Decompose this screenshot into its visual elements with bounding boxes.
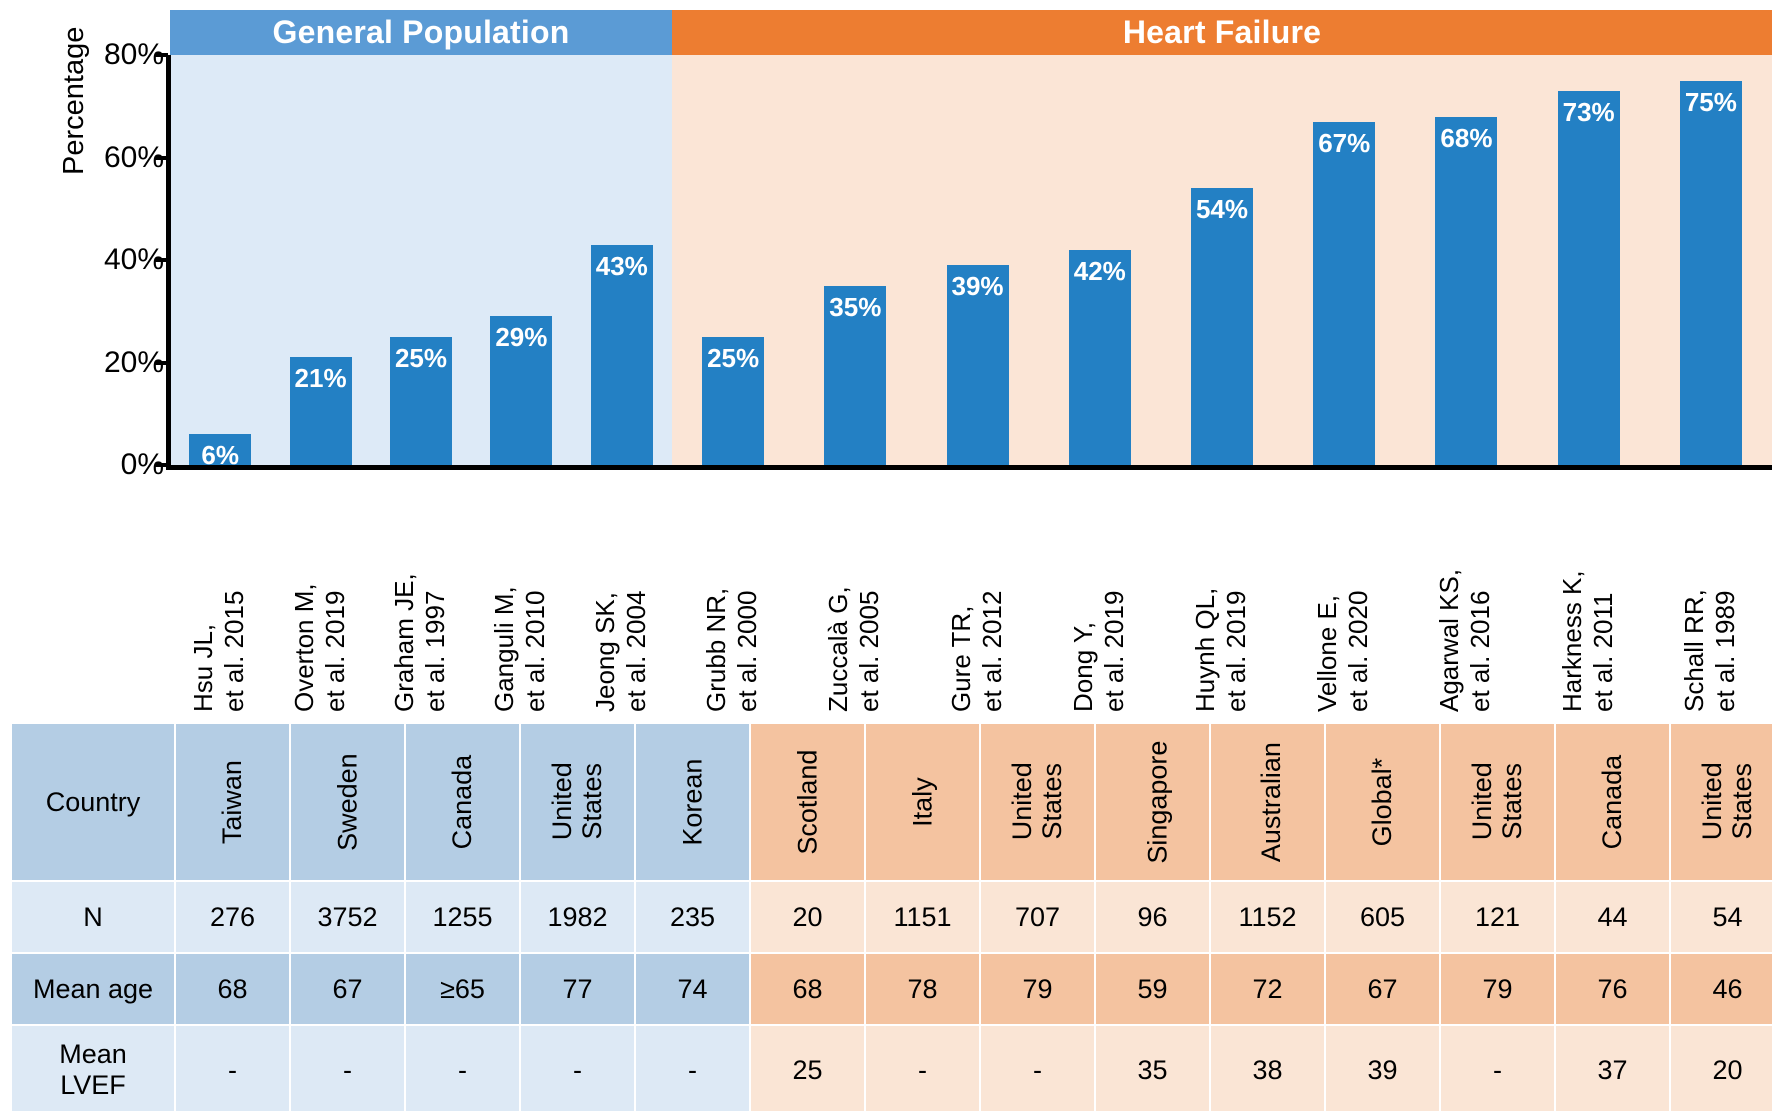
table-cell-country: Australian — [1256, 742, 1286, 862]
country-line1: Korean — [677, 758, 707, 845]
table-cell: 1151 — [866, 882, 979, 952]
bar[interactable]: 73% — [1558, 91, 1620, 465]
country-line2: States — [1497, 763, 1527, 840]
table-cell-country: UnitedStates — [1007, 763, 1067, 841]
bar[interactable]: 43% — [591, 245, 653, 465]
table-cell: - — [866, 1026, 979, 1111]
table-cell: 25 — [751, 1026, 864, 1111]
table-cell: 3752 — [291, 882, 404, 952]
bar-value-label: 39% — [947, 271, 1009, 302]
bar-value-label: 25% — [702, 343, 764, 374]
x-axis-label-slot: Agarwal KS,et al. 2016 — [1405, 472, 1527, 712]
table-cell: UnitedStates — [981, 724, 1094, 880]
bar[interactable]: 29% — [490, 316, 552, 465]
table-cell: 20 — [751, 882, 864, 952]
table-row-n: N276375212551982235201151707961152605121… — [12, 882, 1772, 952]
table-cell: 276 — [176, 882, 289, 952]
table-cell: ≥65 — [406, 954, 519, 1024]
bar-value-label: 73% — [1558, 97, 1620, 128]
bar[interactable]: 68% — [1435, 117, 1497, 466]
bar-chart: Percentage 0%20%40%60%80% General Popula… — [0, 0, 1772, 718]
table-row-label: MeanLVEF — [12, 1026, 174, 1111]
bar-slot: 29% — [471, 55, 571, 465]
bar[interactable]: 21% — [290, 357, 352, 465]
table-cell-mean-lvef: 39 — [1367, 1055, 1397, 1085]
table-cell-mean-age: 77 — [562, 974, 592, 1004]
bar-value-label: 43% — [591, 251, 653, 282]
table-cell: 1255 — [406, 882, 519, 952]
x-axis-label-line1: Gure TR, — [946, 472, 977, 712]
table-cell: - — [521, 1026, 634, 1111]
table-cell-mean-lvef: 37 — [1597, 1055, 1627, 1085]
table-cell-mean-lvef: - — [1493, 1055, 1502, 1085]
table-cell: Australian — [1211, 724, 1324, 880]
table-cell: 72 — [1211, 954, 1324, 1024]
table-cell-mean-age: 67 — [1367, 974, 1397, 1004]
table-cell-mean-age: 72 — [1252, 974, 1282, 1004]
table-cell: 20 — [1671, 1026, 1772, 1111]
x-axis-labels-layer: Hsu JL,et al. 2015Overton M,et al. 2019G… — [170, 472, 1772, 712]
table-cell-mean-age: 59 — [1137, 974, 1167, 1004]
y-tick-label: 20% — [74, 346, 164, 380]
x-axis-label-line2: et al. 2010 — [520, 472, 551, 712]
table-cell-n: 44 — [1597, 902, 1627, 932]
bar[interactable]: 25% — [702, 337, 764, 465]
bar-value-label: 68% — [1435, 123, 1497, 154]
x-axis-label-slot: Harkness K,et al. 2011 — [1528, 472, 1650, 712]
bar-slot: 68% — [1405, 55, 1527, 465]
x-axis-label-line2: et al. 2012 — [976, 472, 1007, 712]
table-cell: UnitedStates — [1441, 724, 1554, 880]
table-cell-mean-lvef: 25 — [792, 1055, 822, 1085]
table-cell-mean-lvef: - — [573, 1055, 582, 1085]
table-cell: 39 — [1326, 1026, 1439, 1111]
y-tick-label: 60% — [74, 141, 164, 175]
country-line1: Scotland — [792, 749, 822, 854]
x-axis-label-line1: Grubb NR, — [701, 472, 732, 712]
table-cell-mean-lvef: 35 — [1137, 1055, 1167, 1085]
y-tick-label: 80% — [74, 38, 164, 72]
bar-slot: 25% — [672, 55, 794, 465]
x-axis-label-slot: Grubb NR,et al. 2000 — [672, 472, 794, 712]
table-cell: 1152 — [1211, 882, 1324, 952]
x-axis-label-line2: et al. 2016 — [1465, 472, 1496, 712]
bar-slot: 75% — [1650, 55, 1772, 465]
bar[interactable]: 39% — [947, 265, 1009, 465]
x-axis-label-line2: et al. 2005 — [854, 472, 885, 712]
table-cell: 79 — [981, 954, 1094, 1024]
x-axis-label: Ganguli M,et al. 2010 — [489, 472, 550, 712]
bar-value-label: 54% — [1191, 194, 1253, 225]
table-cell-country: Global* — [1367, 757, 1397, 846]
table-cell: Sweden — [291, 724, 404, 880]
bar-value-label: 42% — [1069, 256, 1131, 287]
x-axis-label-line2: et al. 2019 — [1098, 472, 1129, 712]
table-cell: - — [636, 1026, 749, 1111]
table-cell-country: UnitedStates — [1467, 763, 1527, 841]
table-row-mean-age: Mean age6867≥657774687879597267797646 — [12, 954, 1772, 1024]
table-cell-mean-age: ≥65 — [440, 974, 485, 1004]
table-cell-mean-lvef: - — [1033, 1055, 1042, 1085]
table-cell-n: 707 — [1015, 902, 1060, 932]
table-cell-mean-lvef: - — [688, 1055, 697, 1085]
table-cell-mean-age: 67 — [332, 974, 362, 1004]
table-cell: Italy — [866, 724, 979, 880]
group-header-general-population-label: General Population — [273, 14, 570, 51]
bar-slot: 6% — [170, 55, 270, 465]
country-line1: United — [1697, 763, 1727, 841]
table-cell-n: 605 — [1360, 902, 1405, 932]
x-axis-label: Agarwal KS,et al. 2016 — [1434, 472, 1495, 712]
x-axis-label-line1: Huynh QL, — [1190, 472, 1221, 712]
table-cell-mean-age: 76 — [1597, 974, 1627, 1004]
table-cell-n: 1152 — [1238, 902, 1296, 932]
bars-layer: 6%21%25%29%43%25%35%39%42%54%67%68%73%75… — [170, 55, 1772, 465]
x-axis-label-line1: Agarwal KS, — [1434, 472, 1465, 712]
x-axis-label: Harkness K,et al. 2011 — [1557, 472, 1618, 712]
table-cell: Scotland — [751, 724, 864, 880]
x-axis-line — [170, 465, 1772, 470]
x-axis-label-line1: Zuccalà G, — [823, 472, 854, 712]
bar[interactable]: 6% — [189, 434, 251, 465]
table-cell-country: Canada — [447, 754, 477, 849]
table-cell-n: 1982 — [547, 902, 607, 932]
mean-lvef-label-line2: LVEF — [60, 1070, 126, 1100]
x-axis-label: Schall RR,et al. 1989 — [1679, 472, 1740, 712]
table-cell: 79 — [1441, 954, 1554, 1024]
x-axis-label-line1: Ganguli M, — [489, 472, 520, 712]
x-axis-label-line1: Graham JE, — [389, 472, 420, 712]
table-cell: 68 — [176, 954, 289, 1024]
x-axis-label-line1: Dong Y, — [1068, 472, 1099, 712]
x-axis-label-slot: Schall RR,et al. 1989 — [1650, 472, 1772, 712]
x-axis-label-slot: Dong Y,et al. 2019 — [1039, 472, 1161, 712]
table-cell: 37 — [1556, 1026, 1669, 1111]
x-axis-label-line2: et al. 1989 — [1710, 472, 1741, 712]
table-row-country: CountryTaiwanSwedenCanadaUnitedStatesKor… — [12, 724, 1772, 880]
table-cell: - — [1441, 1026, 1554, 1111]
table-row-label-text: N — [83, 902, 103, 932]
table-cell: 68 — [751, 954, 864, 1024]
bar-slot: 67% — [1283, 55, 1405, 465]
table-cell-mean-lvef: - — [458, 1055, 467, 1085]
x-axis-label-line2: et al. 2020 — [1343, 472, 1374, 712]
x-axis-label: Gure TR,et al. 2012 — [946, 472, 1007, 712]
table-cell-n: 54 — [1712, 902, 1742, 932]
table-cell-n: 3752 — [317, 902, 377, 932]
table-cell: 46 — [1671, 954, 1772, 1024]
country-line1: Italy — [907, 777, 937, 827]
bar[interactable]: 25% — [390, 337, 452, 465]
table-cell: 54 — [1671, 882, 1772, 952]
table-cell: UnitedStates — [521, 724, 634, 880]
country-line1: Global* — [1367, 757, 1397, 846]
country-line1: United — [547, 763, 577, 841]
table-cell-country: Scotland — [792, 749, 822, 854]
bar-value-label: 75% — [1680, 87, 1742, 118]
x-axis-label-slot: Gure TR,et al. 2012 — [916, 472, 1038, 712]
bar-value-label: 6% — [189, 440, 251, 471]
country-line1: United — [1467, 763, 1497, 841]
x-axis-label-slot: Ganguli M,et al. 2010 — [471, 472, 571, 712]
table-cell-mean-age: 74 — [677, 974, 707, 1004]
x-axis-label-line1: Vellone E, — [1312, 472, 1343, 712]
table-row-mean-lvef: MeanLVEF-----25--353839-3720 — [12, 1026, 1772, 1111]
table-cell-n: 1255 — [432, 902, 492, 932]
summary-table: CountryTaiwanSwedenCanadaUnitedStatesKor… — [10, 722, 1766, 1106]
table-row-label-text: Mean age — [33, 974, 153, 1004]
table-cell: 1982 — [521, 882, 634, 952]
y-tick-label: 0% — [74, 448, 164, 482]
table-cell: 74 — [636, 954, 749, 1024]
table-row-label-text: MeanLVEF — [59, 1039, 127, 1100]
table-cell-country: Sweden — [332, 753, 362, 851]
table-cell-country: Korean — [677, 758, 707, 845]
table-cell-country: Singapore — [1142, 740, 1172, 863]
group-header-heart-failure: Heart Failure — [672, 10, 1772, 55]
table-cell: 67 — [291, 954, 404, 1024]
country-line1: Canada — [1597, 754, 1627, 849]
table-cell-n: 1151 — [893, 902, 951, 932]
x-axis-label-slot: Zuccalà G,et al. 2005 — [794, 472, 916, 712]
x-axis-label-line1: Jeong SK, — [590, 472, 621, 712]
table-cell: 67 — [1326, 954, 1439, 1024]
table-cell-country: Canada — [1597, 754, 1627, 849]
table-cell-country: Italy — [907, 777, 937, 827]
mean-lvef-label-line1: Mean — [59, 1039, 127, 1069]
x-axis-label-line1: Overton M, — [289, 472, 320, 712]
x-axis-label-slot: Jeong SK,et al. 2004 — [572, 472, 672, 712]
table-cell-mean-age: 68 — [217, 974, 247, 1004]
table-cell-mean-age: 68 — [792, 974, 822, 1004]
table-cell-mean-age: 46 — [1712, 974, 1742, 1004]
table-cell: Singapore — [1096, 724, 1209, 880]
table-cell: 707 — [981, 882, 1094, 952]
table-cell-n: 20 — [792, 902, 822, 932]
x-axis-label-line2: et al. 2011 — [1587, 472, 1618, 712]
x-axis-label: Zuccalà G,et al. 2005 — [823, 472, 884, 712]
bar[interactable]: 67% — [1313, 122, 1375, 465]
country-line2: States — [577, 763, 607, 840]
x-axis-label: Hsu JL,et al. 2015 — [188, 472, 249, 712]
group-header-general-population: General Population — [170, 10, 672, 55]
table-cell-mean-lvef: - — [228, 1055, 237, 1085]
table-cell-mean-age: 78 — [907, 974, 937, 1004]
table-cell: 35 — [1096, 1026, 1209, 1111]
table-cell: 38 — [1211, 1026, 1324, 1111]
table-cell: UnitedStates — [1671, 724, 1772, 880]
table-cell-n: 276 — [210, 902, 255, 932]
x-axis-label: Vellone E,et al. 2020 — [1312, 472, 1373, 712]
x-axis-label-slot: Vellone E,et al. 2020 — [1283, 472, 1405, 712]
table-cell: - — [176, 1026, 289, 1111]
bar-slot: 43% — [572, 55, 672, 465]
bar-value-label: 67% — [1313, 128, 1375, 159]
x-axis-label-slot: Graham JE,et al. 1997 — [371, 472, 471, 712]
table-cell-mean-age: 79 — [1482, 974, 1512, 1004]
bar[interactable]: 35% — [824, 286, 886, 465]
x-axis-label-slot: Overton M,et al. 2019 — [270, 472, 370, 712]
table-cell-mean-lvef: 20 — [1712, 1055, 1742, 1085]
table-row-label: Country — [12, 724, 174, 880]
table-cell: Canada — [1556, 724, 1669, 880]
x-axis-label-line2: et al. 1997 — [420, 472, 451, 712]
table-cell: Global* — [1326, 724, 1439, 880]
table-cell: 59 — [1096, 954, 1209, 1024]
table-row-label: Mean age — [12, 954, 174, 1024]
table-cell: - — [291, 1026, 404, 1111]
x-axis-label-line1: Harkness K, — [1557, 472, 1588, 712]
x-axis-label-slot: Huynh QL,et al. 2019 — [1161, 472, 1283, 712]
x-axis-label-line2: et al. 2019 — [319, 472, 350, 712]
table-cell-country: Taiwan — [217, 760, 247, 844]
x-axis-label-line2: et al. 2000 — [732, 472, 763, 712]
country-line2: States — [1037, 763, 1067, 840]
table-cell: Korean — [636, 724, 749, 880]
country-line1: Taiwan — [217, 760, 247, 844]
x-axis-label-line2: et al. 2019 — [1221, 472, 1252, 712]
country-line1: Canada — [447, 754, 477, 849]
country-line1: Australian — [1256, 742, 1286, 862]
table-row-label-text: Country — [46, 787, 141, 817]
table-cell: Canada — [406, 724, 519, 880]
bar-value-label: 25% — [390, 343, 452, 374]
table-cell: 78 — [866, 954, 979, 1024]
table-cell: 96 — [1096, 882, 1209, 952]
table-cell: 77 — [521, 954, 634, 1024]
y-tick-label: 40% — [74, 243, 164, 277]
x-axis-label-line1: Schall RR, — [1679, 472, 1710, 712]
table-cell: - — [406, 1026, 519, 1111]
x-axis-label: Overton M,et al. 2019 — [289, 472, 350, 712]
country-line2: States — [1727, 763, 1757, 840]
table-cell-country: UnitedStates — [1697, 763, 1757, 841]
table-cell-mean-lvef: 38 — [1252, 1055, 1282, 1085]
table-cell-mean-age: 79 — [1022, 974, 1052, 1004]
bar[interactable]: 75% — [1680, 81, 1742, 465]
table-cell: 44 — [1556, 882, 1669, 952]
table-cell: 76 — [1556, 954, 1669, 1024]
x-axis-label-line1: Hsu JL, — [188, 472, 219, 712]
bar-slot: 39% — [916, 55, 1038, 465]
bar-slot: 35% — [794, 55, 916, 465]
bar-slot: 42% — [1039, 55, 1161, 465]
table-cell-mean-lvef: - — [343, 1055, 352, 1085]
x-axis-label: Dong Y,et al. 2019 — [1068, 472, 1129, 712]
x-axis-label-slot: Hsu JL,et al. 2015 — [170, 472, 270, 712]
table-cell: 235 — [636, 882, 749, 952]
country-line1: Sweden — [332, 753, 362, 851]
table-cell: Taiwan — [176, 724, 289, 880]
table-cell-n: 121 — [1475, 902, 1520, 932]
table-cell: 121 — [1441, 882, 1554, 952]
x-axis-label-line2: et al. 2004 — [620, 472, 651, 712]
country-line1: Singapore — [1142, 740, 1172, 863]
bar-slot: 25% — [371, 55, 471, 465]
bar-value-label: 29% — [490, 322, 552, 353]
bar[interactable]: 42% — [1069, 250, 1131, 465]
table-row-label: N — [12, 882, 174, 952]
table-cell-mean-lvef: - — [918, 1055, 927, 1085]
bar-value-label: 21% — [290, 363, 352, 394]
bar[interactable]: 54% — [1191, 188, 1253, 465]
x-axis-label: Jeong SK,et al. 2004 — [590, 472, 651, 712]
x-axis-label: Graham JE,et al. 1997 — [389, 472, 450, 712]
bar-slot: 54% — [1161, 55, 1283, 465]
group-header-heart-failure-label: Heart Failure — [1123, 14, 1321, 51]
table-cell: - — [981, 1026, 1094, 1111]
table-cell-n: 96 — [1137, 902, 1167, 932]
country-line1: United — [1007, 763, 1037, 841]
table-cell: 605 — [1326, 882, 1439, 952]
table-cell-n: 235 — [670, 902, 715, 932]
table-cell-country: UnitedStates — [547, 763, 607, 841]
bar-slot: 21% — [270, 55, 370, 465]
x-axis-label-line2: et al. 2015 — [219, 472, 250, 712]
bar-value-label: 35% — [824, 292, 886, 323]
figure-root: Percentage 0%20%40%60%80% General Popula… — [0, 0, 1772, 1111]
bar-slot: 73% — [1528, 55, 1650, 465]
x-axis-label: Grubb NR,et al. 2000 — [701, 472, 762, 712]
x-axis-label: Huynh QL,et al. 2019 — [1190, 472, 1251, 712]
